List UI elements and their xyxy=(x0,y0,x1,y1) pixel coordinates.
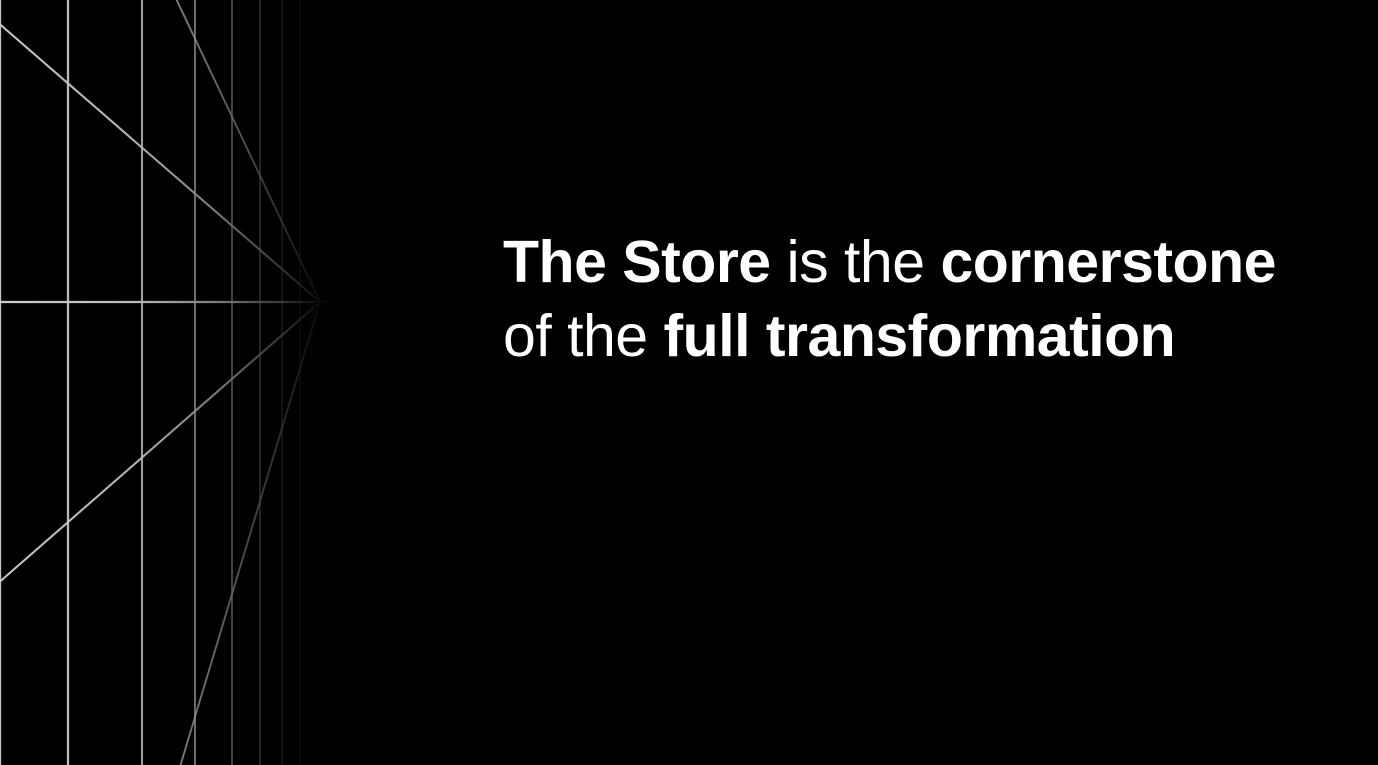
headline-seg-cornerstone: cornerstone xyxy=(940,229,1275,295)
headline: The Store is the cornerstone of the full… xyxy=(503,225,1263,373)
grid-diagonal-lower-1 xyxy=(0,302,320,592)
grid-diagonal-upper-2 xyxy=(170,0,320,302)
grid-vertical-lines xyxy=(0,0,312,765)
headline-seg-the-store: The Store xyxy=(503,229,771,295)
grid-diagonal-upper-1 xyxy=(0,14,320,302)
perspective-grid-artwork xyxy=(0,0,1378,765)
headline-seg-is-the: is the xyxy=(787,229,925,295)
grid-diagonal-lower-2 xyxy=(176,302,320,765)
headline-seg-full-transformation: full transformation xyxy=(664,303,1176,369)
headline-line-1: The Store is the cornerstone xyxy=(503,225,1263,299)
slide-root: The Store is the cornerstone of the full… xyxy=(0,0,1378,765)
grid-diagonal-lines xyxy=(0,0,320,765)
headline-space-2 xyxy=(925,229,941,295)
headline-line-2: of the full transformation xyxy=(503,299,1263,373)
headline-space-1 xyxy=(771,229,787,295)
headline-seg-of-the: of the xyxy=(503,303,648,369)
perspective-grid-svg xyxy=(0,0,1378,765)
headline-space-3 xyxy=(648,303,664,369)
